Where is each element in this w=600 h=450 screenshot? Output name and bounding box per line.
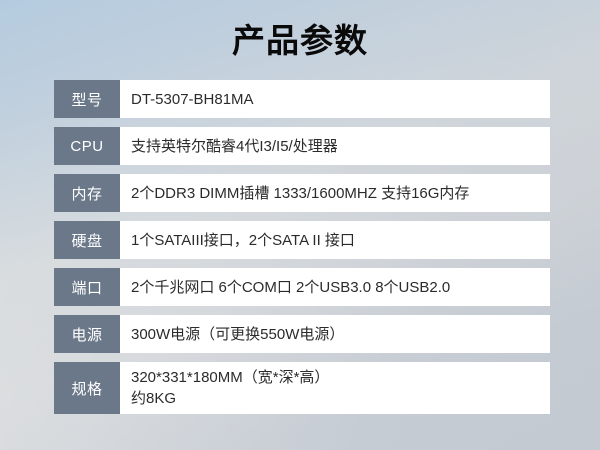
spec-value-ports: 2个千兆网口 6个COM口 2个USB3.0 8个USB2.0	[120, 268, 550, 306]
spec-label-storage: 硬盘	[54, 221, 120, 259]
spec-label-dimensions: 规格	[54, 362, 120, 414]
spec-row-ports: 端口 2个千兆网口 6个COM口 2个USB3.0 8个USB2.0	[54, 268, 550, 306]
spec-value-line: 2个千兆网口 6个COM口 2个USB3.0 8个USB2.0	[131, 277, 550, 298]
spec-row-cpu: CPU 支持英特尔酷睿4代I3/I5/处理器	[54, 127, 550, 165]
spec-label-memory: 内存	[54, 174, 120, 212]
spec-value-storage: 1个SATAIII接口，2个SATA II 接口	[120, 221, 550, 259]
spec-value-power: 300W电源（可更换550W电源）	[120, 315, 550, 353]
spec-value-model: DT-5307-BH81MA	[120, 80, 550, 118]
spec-value-line: 约8KG	[131, 388, 550, 409]
spec-label-cpu: CPU	[54, 127, 120, 165]
product-spec-page: 产品参数 型号 DT-5307-BH81MA CPU 支持英特尔酷睿4代I3/I…	[0, 0, 600, 450]
spec-row-power: 电源 300W电源（可更换550W电源）	[54, 315, 550, 353]
page-title: 产品参数	[0, 22, 600, 60]
spec-value-memory: 2个DDR3 DIMM插槽 1333/1600MHZ 支持16G内存	[120, 174, 550, 212]
spec-value-dimensions: 320*331*180MM（宽*深*高） 约8KG	[120, 362, 550, 414]
spec-value-cpu: 支持英特尔酷睿4代I3/I5/处理器	[120, 127, 550, 165]
spec-value-line: 300W电源（可更换550W电源）	[131, 324, 550, 345]
spec-value-line: 2个DDR3 DIMM插槽 1333/1600MHZ 支持16G内存	[131, 183, 550, 204]
spec-label-power: 电源	[54, 315, 120, 353]
spec-label-ports: 端口	[54, 268, 120, 306]
spec-table: 型号 DT-5307-BH81MA CPU 支持英特尔酷睿4代I3/I5/处理器…	[54, 80, 550, 414]
spec-value-line: 320*331*180MM（宽*深*高）	[131, 367, 550, 388]
spec-row-model: 型号 DT-5307-BH81MA	[54, 80, 550, 118]
spec-row-memory: 内存 2个DDR3 DIMM插槽 1333/1600MHZ 支持16G内存	[54, 174, 550, 212]
spec-label-model: 型号	[54, 80, 120, 118]
spec-value-line: DT-5307-BH81MA	[131, 89, 550, 110]
spec-row-dimensions: 规格 320*331*180MM（宽*深*高） 约8KG	[54, 362, 550, 414]
spec-row-storage: 硬盘 1个SATAIII接口，2个SATA II 接口	[54, 221, 550, 259]
spec-value-line: 1个SATAIII接口，2个SATA II 接口	[131, 230, 550, 251]
spec-value-line: 支持英特尔酷睿4代I3/I5/处理器	[131, 136, 550, 157]
